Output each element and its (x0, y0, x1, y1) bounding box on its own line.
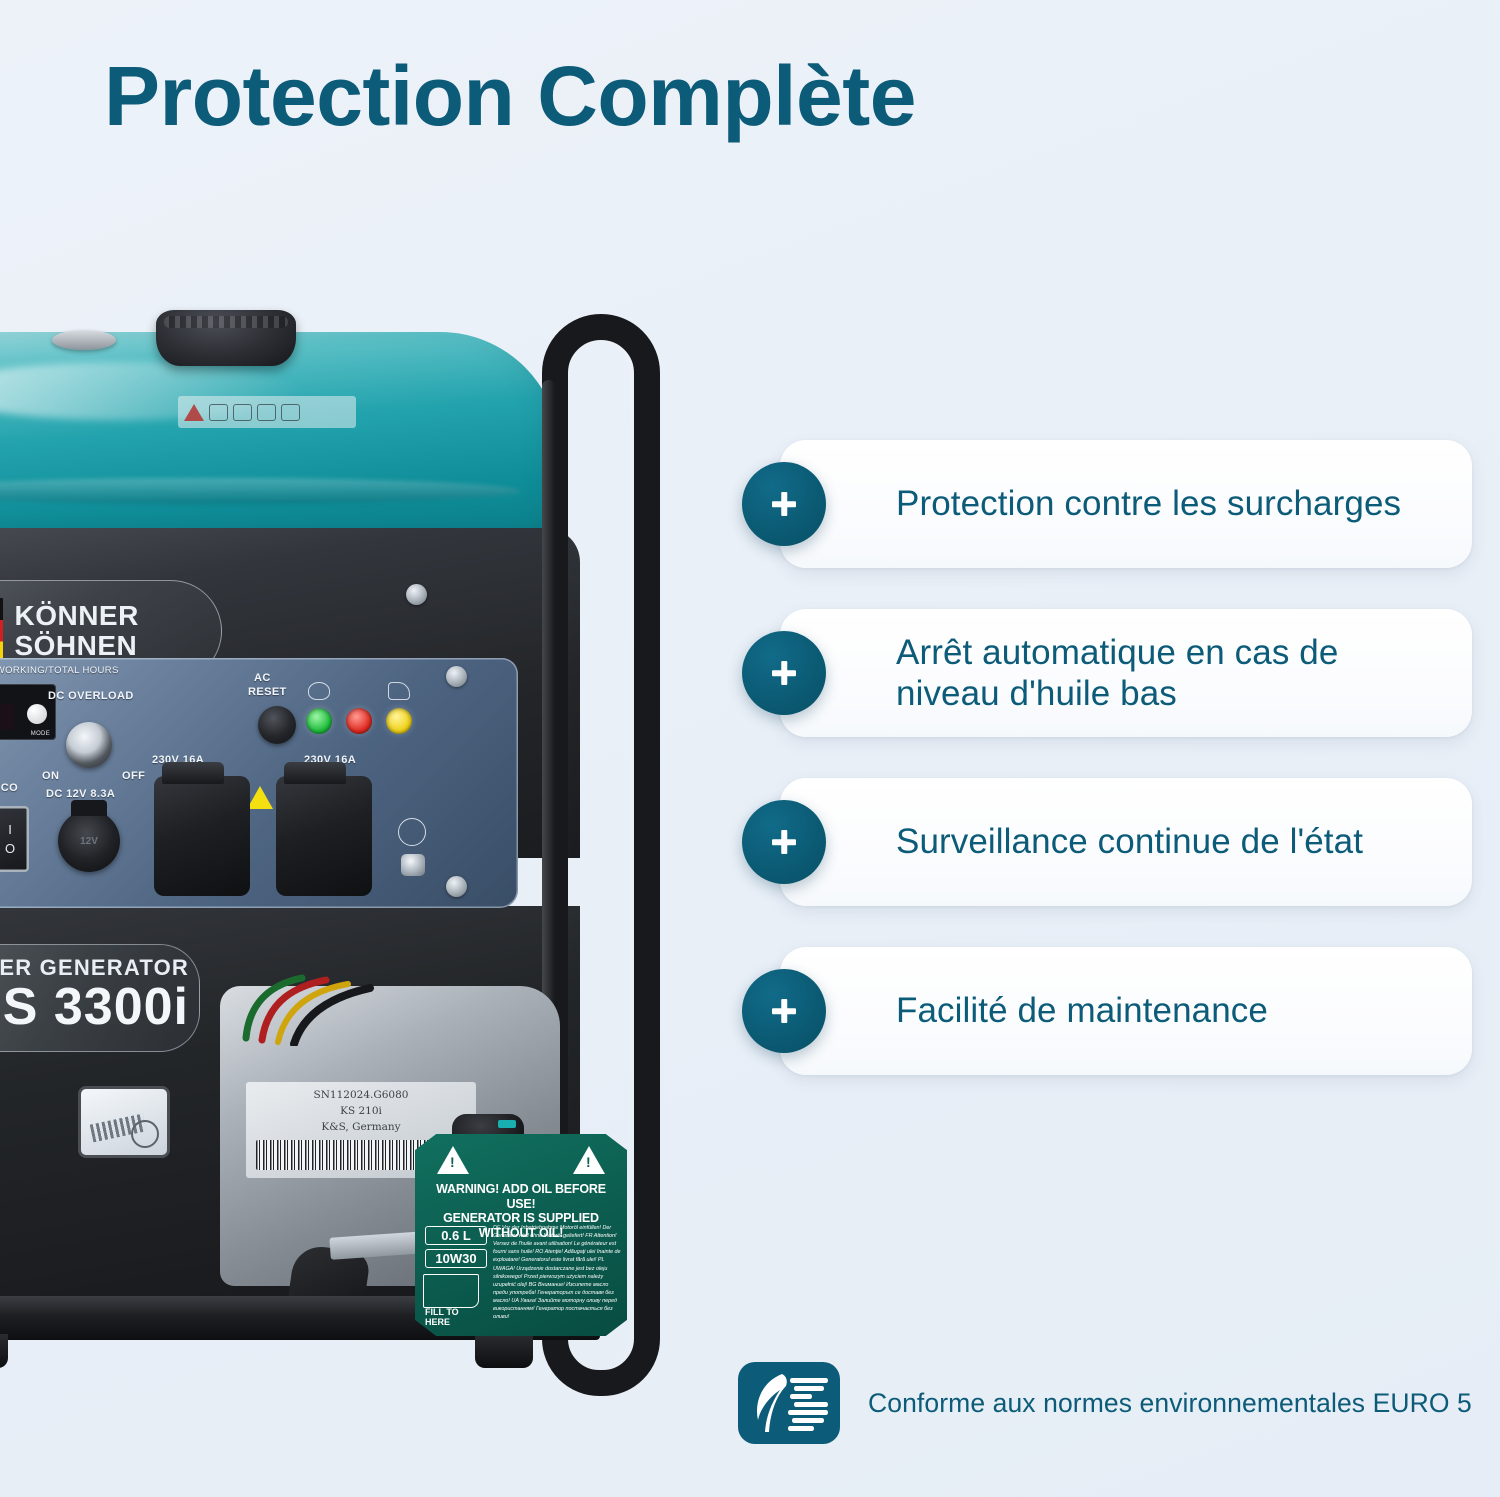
no-rain-icon (281, 404, 300, 421)
feature-card-3[interactable]: Surveillance continue de l'état (780, 778, 1472, 906)
model-name-label: S 3300i (0, 981, 189, 1034)
oil-volume: 0.6 L (425, 1226, 487, 1245)
ac-reset-button[interactable] (258, 706, 296, 744)
brand-line-1: KÖNNER (14, 600, 138, 631)
meter-mode-label: MODE (31, 731, 50, 737)
fill-level-diagram-icon (423, 1274, 479, 1308)
safety-pictogram-sticker (178, 396, 356, 428)
eco-switch[interactable]: I O (0, 806, 29, 872)
dc-rating-label: DC 12V 8.3A (46, 788, 115, 800)
plus-badge-1[interactable] (742, 462, 826, 546)
output-indicator-icon (308, 682, 330, 700)
plus-icon (769, 489, 799, 519)
engine-wiring-icon (240, 968, 410, 1046)
overload-led (346, 708, 372, 734)
feature-card-4[interactable]: Facilité de maintenance (780, 947, 1472, 1075)
housing-screw-upper (406, 584, 427, 605)
ac-reset-label-line2: RESET (248, 686, 287, 698)
control-panel: VOLTS/FREQUENCY/WORKING/TOTAL HOURS METE… (0, 658, 518, 908)
fuel-cap (156, 310, 296, 366)
feature-label-3: Surveillance continue de l'état (896, 821, 1363, 862)
engine-origin: K&S, Germany (246, 1120, 476, 1136)
tank-crease (0, 478, 520, 504)
engine-model: KS 210i (246, 1104, 476, 1120)
ac-outlet-right[interactable] (276, 776, 372, 896)
dc-socket-label: 12V (80, 836, 98, 847)
electric-shock-warning-icon (247, 786, 273, 809)
meter-mode-button[interactable] (27, 704, 47, 724)
product-photo-generator: KS KÖNNER SÖHNEN VOLTS/FREQUENCY/WORKING… (0, 296, 720, 1416)
earth-ground-terminal[interactable] (401, 854, 425, 876)
plus-badge-2[interactable] (742, 631, 826, 715)
meter-readout: 88:88 (0, 704, 14, 730)
poster-canvas: Protection Complète KS KÖNNER SÖ (0, 0, 1500, 1497)
feature-card-2[interactable]: Arrêt automatique en cas de niveau d'hui… (780, 609, 1472, 737)
vent-cap (52, 330, 116, 350)
oil-spec-group: 0.6 L 10W30 (425, 1226, 487, 1272)
eco-label: ECO (0, 782, 18, 794)
feature-list: Protection contre les surcharges Arrêt a… (742, 440, 1472, 1075)
plus-badge-3[interactable] (742, 800, 826, 884)
feature-label-4: Facilité de maintenance (896, 990, 1268, 1031)
euro5-footer: Conforme aux normes environnementales EU… (738, 1362, 1472, 1444)
oil-tag-languages: DE Vor der Inbetriebnahme Motoröl einfül… (493, 1224, 621, 1321)
euro5-label: Conforme aux normes environnementales EU… (868, 1388, 1472, 1419)
euro5-badge-art (738, 1362, 840, 1444)
fill-to-line2: HERE (425, 1317, 450, 1327)
oil-alert-icon (388, 682, 410, 700)
output-led (306, 708, 332, 734)
ac-reset-label-line1: AC (254, 672, 271, 684)
no-flame-icon (233, 404, 252, 421)
fill-to-line1: FILL TO (425, 1307, 459, 1317)
warning-triangle-icon (184, 404, 204, 421)
brand-line-2: SÖHNEN (14, 630, 137, 661)
manual-icon (209, 404, 228, 421)
dc-on-label: ON (42, 770, 59, 782)
leaf-euro5-icon (738, 1362, 840, 1444)
rubber-foot-right (475, 1334, 533, 1368)
meter-header-label: VOLTS/FREQUENCY/WORKING/TOTAL HOURS (0, 665, 119, 676)
warning-triangle-right-icon: ! (573, 1146, 605, 1174)
eco-off-mark: O (5, 839, 15, 859)
plus-badge-4[interactable] (742, 969, 826, 1053)
ac-outlet-left[interactable] (154, 776, 250, 896)
fill-to-here-label: FILL TO HERE (425, 1308, 459, 1328)
plus-icon (769, 658, 799, 688)
dc-overload-label: DC OVERLOAD (48, 690, 134, 702)
overload-warning-icon (348, 682, 370, 700)
no-indoor-icon (257, 404, 276, 421)
feature-label-2: Arrêt automatique en cas de niveau d'hui… (896, 632, 1446, 715)
brand-name: KÖNNER SÖHNEN (14, 601, 138, 660)
german-flag-icon (0, 598, 3, 664)
panel-screw-bottom-right (446, 876, 467, 897)
eco-on-mark: I (8, 820, 12, 840)
rubber-foot-left (0, 1334, 8, 1368)
oil-tag-heading-line1: WARNING! ADD OIL BEFORE USE! (423, 1182, 619, 1211)
feature-card-1[interactable]: Protection contre les surcharges (780, 440, 1472, 568)
dc-off-label: OFF (122, 770, 145, 782)
oil-alert-led (386, 708, 412, 734)
dc-12v-socket[interactable]: 12V (58, 810, 120, 872)
dc-overload-breaker[interactable] (66, 722, 112, 768)
engine-serial: SN112024.G6080 (246, 1088, 476, 1104)
oil-grade: 10W30 (425, 1249, 487, 1268)
earth-ground-icon (398, 818, 426, 846)
oil-warning-tag: ! ! WARNING! ADD OIL BEFORE USE! GENERAT… (415, 1134, 627, 1336)
maintenance-sticker (78, 1086, 170, 1158)
feature-label-1: Protection contre les surcharges (896, 483, 1401, 524)
plus-icon (769, 996, 799, 1026)
warning-triangle-left-icon: ! (437, 1146, 469, 1174)
panel-screw-top-right (446, 666, 467, 687)
model-badge: RTER GENERATOR S 3300i (0, 944, 200, 1052)
plus-icon (769, 827, 799, 857)
page-title: Protection Complète (104, 52, 916, 140)
